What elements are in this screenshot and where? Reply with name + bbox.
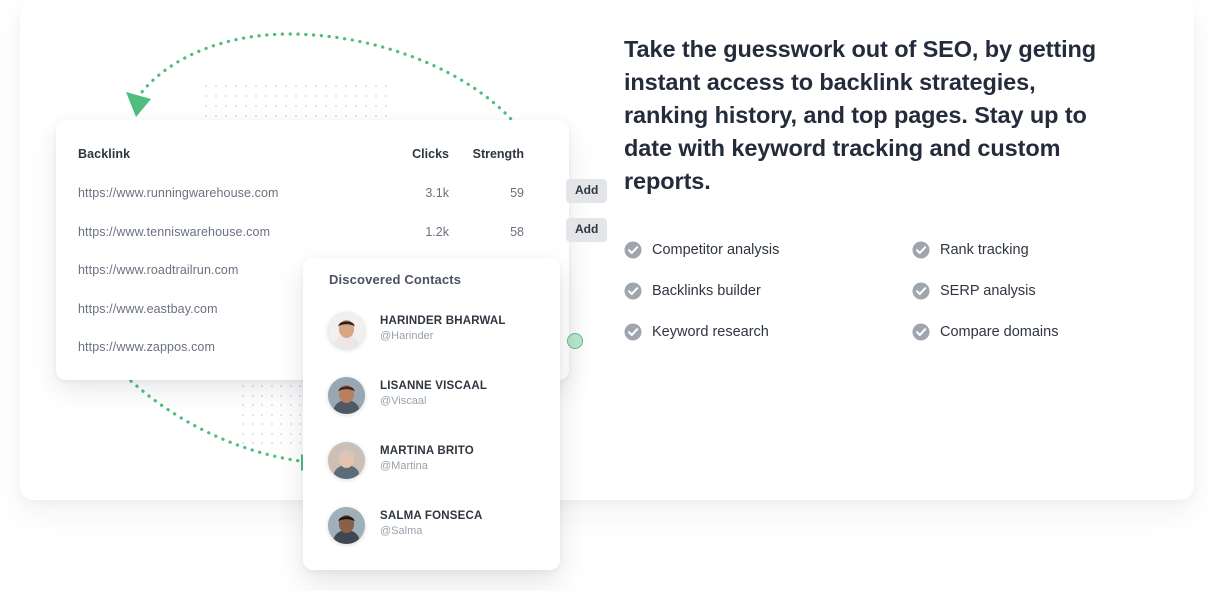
- contact-name: LISANNE VISCAAL: [380, 380, 487, 392]
- feature-label: Rank tracking: [940, 242, 1029, 258]
- cell-clicks: 1.2k: [356, 224, 449, 240]
- table-row: https://www.tenniswarehouse.com1.2k58Add: [56, 224, 569, 262]
- contact-name: SALMA FONSECA: [380, 510, 482, 522]
- contact-list-item[interactable]: HARINDER BHARWAL@Harinder: [303, 312, 560, 358]
- table-header-row: BacklinkClicksStrength: [56, 146, 569, 184]
- cell-backlink-url[interactable]: https://www.tenniswarehouse.com: [78, 224, 270, 240]
- dot-grid-decoration-bottom: [242, 385, 305, 442]
- contacts-card-title: Discovered Contacts: [329, 272, 461, 287]
- feature-item: Competitor analysis: [624, 236, 779, 264]
- check-circle-icon: [912, 282, 930, 300]
- add-backlink-button[interactable]: Add: [566, 179, 607, 203]
- contact-name: MARTINA BRITO: [380, 445, 474, 457]
- check-circle-icon: [624, 282, 642, 300]
- contact-name: HARINDER BHARWAL: [380, 315, 506, 327]
- add-backlink-button[interactable]: Add: [566, 218, 607, 242]
- feature-label: Competitor analysis: [652, 242, 779, 258]
- contact-handle: @Viscaal: [380, 395, 426, 407]
- check-circle-icon: [624, 241, 642, 259]
- check-circle-icon: [912, 323, 930, 341]
- check-circle-icon: [624, 323, 642, 341]
- avatar: [328, 312, 365, 349]
- avatar: [328, 442, 365, 479]
- dot-grid-decoration-top: [205, 85, 387, 115]
- contact-handle: @Salma: [380, 525, 422, 537]
- feature-label: Keyword research: [652, 324, 769, 340]
- feature-item: Keyword research: [624, 318, 769, 346]
- cell-backlink-url[interactable]: https://www.eastbay.com: [78, 301, 218, 317]
- marketing-headline: Take the guesswork out of SEO, by gettin…: [624, 33, 1124, 198]
- avatar: [328, 377, 365, 414]
- contact-list-item[interactable]: LISANNE VISCAAL@Viscaal: [303, 377, 560, 423]
- page-root: BacklinkClicksStrengthhttps://www.runnin…: [0, 0, 1214, 591]
- feature-item: Rank tracking: [912, 236, 1029, 264]
- cell-strength: 59: [456, 185, 524, 201]
- column-header-strength: Strength: [456, 146, 524, 162]
- discovered-contacts-card: Discovered Contacts HARINDER BHARWAL@Har…: [303, 258, 560, 570]
- column-header-backlink: Backlink: [78, 146, 130, 162]
- feature-item: Compare domains: [912, 318, 1058, 346]
- cell-backlink-url[interactable]: https://www.roadtrailrun.com: [78, 262, 239, 278]
- cursor-pointer-indicator: [567, 333, 583, 349]
- check-circle-icon: [912, 241, 930, 259]
- contact-list-item[interactable]: MARTINA BRITO@Martina: [303, 442, 560, 488]
- table-row: https://www.runningwarehouse.com3.1k59Ad…: [56, 185, 569, 223]
- feature-label: Backlinks builder: [652, 283, 761, 299]
- avatar: [328, 507, 365, 544]
- contact-handle: @Harinder: [380, 330, 433, 342]
- cell-strength: 58: [456, 224, 524, 240]
- column-header-clicks: Clicks: [356, 146, 449, 162]
- feature-item: Backlinks builder: [624, 277, 761, 305]
- feature-item: SERP analysis: [912, 277, 1036, 305]
- cell-clicks: 3.1k: [356, 185, 449, 201]
- cell-backlink-url[interactable]: https://www.zappos.com: [78, 339, 215, 355]
- feature-label: SERP analysis: [940, 283, 1036, 299]
- contact-handle: @Martina: [380, 460, 428, 472]
- contact-list-item[interactable]: SALMA FONSECA@Salma: [303, 507, 560, 553]
- feature-label: Compare domains: [940, 324, 1058, 340]
- cell-backlink-url[interactable]: https://www.runningwarehouse.com: [78, 185, 279, 201]
